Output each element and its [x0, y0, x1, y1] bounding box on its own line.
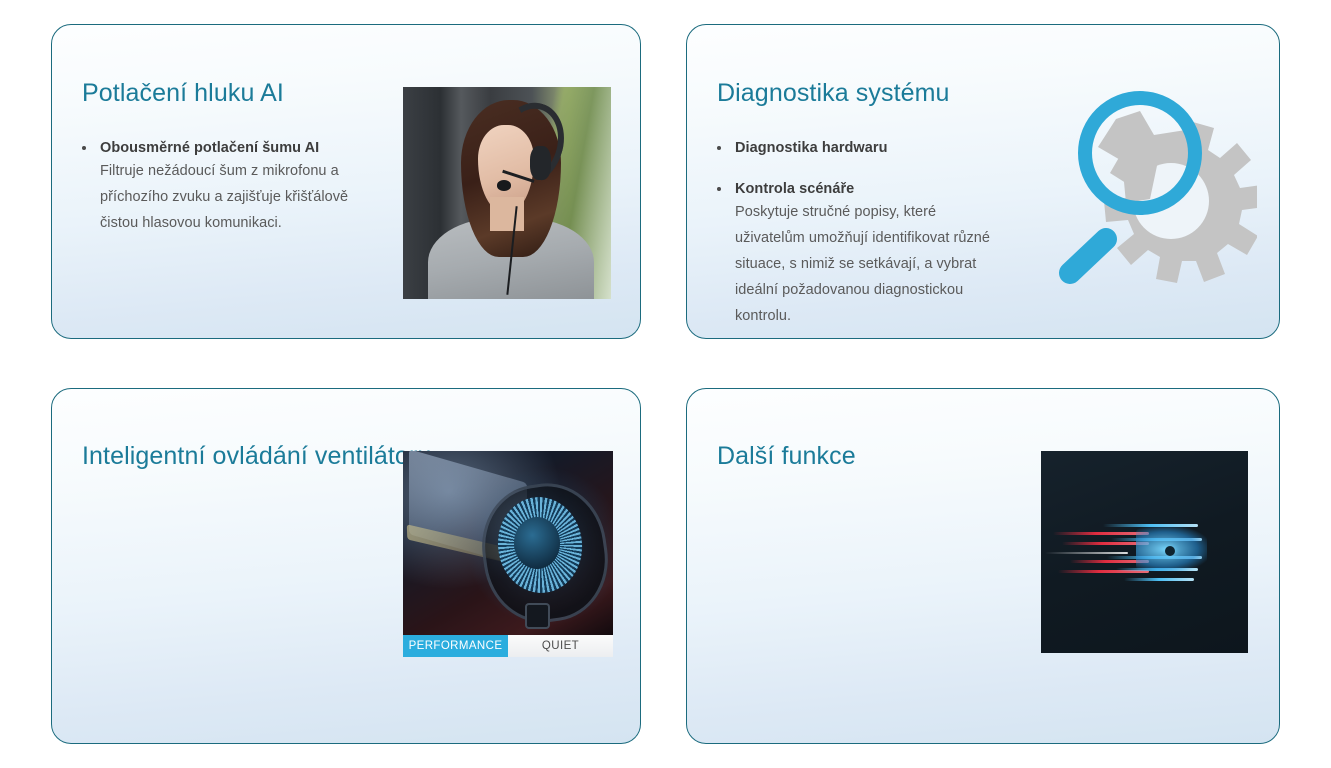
- bullet-dot-icon: [82, 146, 86, 150]
- bullet-heading: Kontrola scénáře: [735, 180, 1003, 199]
- magnifier-gear-wrench-icon: [1042, 73, 1257, 291]
- fan-mode-quiet-button[interactable]: QUIET: [508, 635, 613, 657]
- bullet-description: Filtruje nežádoucí šum z mikrofonu a pří…: [100, 158, 364, 236]
- photo-person-neck: [490, 197, 523, 231]
- photo-backdrop: [1041, 451, 1248, 653]
- photo-headset-earcup: [530, 146, 551, 180]
- list-item: Obousměrné potlačení šumu AI Filtruje ne…: [78, 139, 364, 236]
- photo-backdrop: [403, 87, 611, 299]
- fan-mode-performance-button[interactable]: PERFORMANCE: [403, 635, 508, 657]
- bullet-list-system-diagnostics: Diagnostika hardwaru Kontrola scénáře Po…: [713, 139, 1003, 339]
- photo-fan-hub: [514, 517, 560, 569]
- headset-woman-photo: [403, 87, 611, 299]
- bullet-list-ai-noise-cancelation: Obousměrné potlačení šumu AI Filtruje ne…: [78, 139, 364, 236]
- bullet-heading: Diagnostika hardwaru: [735, 139, 1003, 158]
- photo-headset-mic: [497, 180, 512, 191]
- bullet-description: Poskytuje stručné popisy, které uživatel…: [735, 199, 1003, 329]
- photo-fan-mount: [525, 603, 550, 629]
- card-other-features: Další funkce WiFi SmartConnect Optimaliz…: [686, 388, 1280, 744]
- bullet-dot-icon: [717, 146, 721, 150]
- photo-streak: [1124, 578, 1194, 581]
- network-speed-photo: [1041, 451, 1248, 653]
- photo-streak: [1053, 532, 1148, 535]
- card-intelligent-fan-control: Inteligentní ovládání ventilátoru Výkonn…: [51, 388, 641, 744]
- bullet-dot-icon: [717, 187, 721, 191]
- magnifier-handle: [1070, 239, 1106, 273]
- features-page: Potlačení hluku AI Obousměrné potlačení …: [0, 0, 1331, 768]
- card-ai-noise-cancelation: Potlačení hluku AI Obousměrné potlačení …: [51, 24, 641, 339]
- card-title-intelligent-fan-control: Inteligentní ovládání ventilátoru: [82, 442, 431, 471]
- photo-backdrop: [403, 451, 613, 635]
- photo-streak: [1045, 552, 1128, 554]
- card-system-diagnostics: Diagnostika systému Diagnostika hardwaru…: [686, 24, 1280, 339]
- card-title-system-diagnostics: Diagnostika systému: [717, 79, 950, 108]
- card-title-ai-noise-cancelation: Potlačení hluku AI: [82, 79, 284, 108]
- bullet-heading: Obousměrné potlačení šumu AI: [100, 139, 364, 158]
- card-title-other-features: Další funkce: [717, 442, 856, 471]
- fan-mode-toggle[interactable]: PERFORMANCE QUIET: [403, 635, 613, 657]
- cooling-fan-photo: [403, 451, 613, 635]
- list-item: Diagnostika hardwaru: [713, 139, 1003, 158]
- list-item: Kontrola scénáře Poskytuje stručné popis…: [713, 180, 1003, 329]
